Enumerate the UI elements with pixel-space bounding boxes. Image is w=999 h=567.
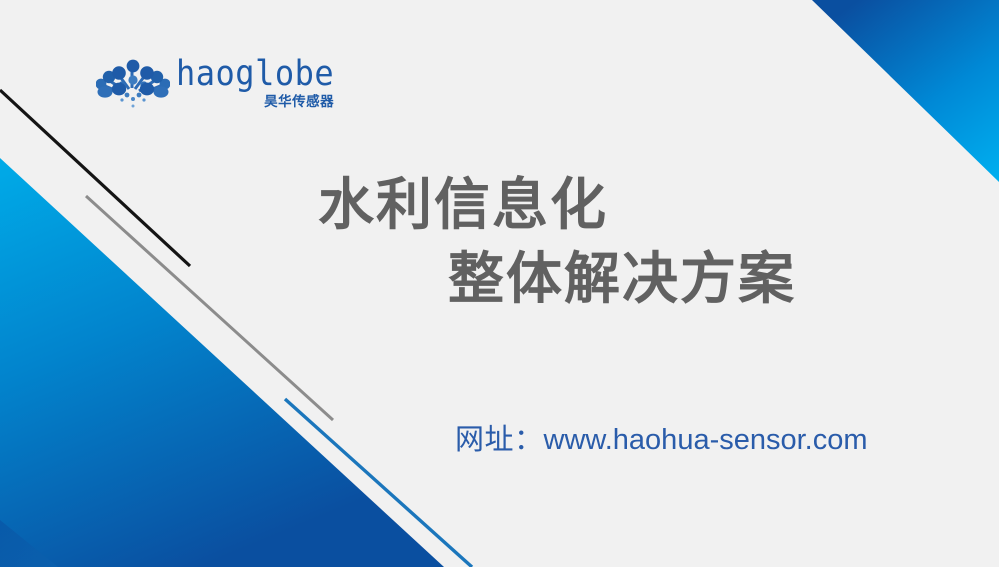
diagonal-line-gray (86, 196, 333, 420)
brand-text-block: haoglobe 昊华传感器 (176, 55, 334, 109)
website-url[interactable]: www.haohua-sensor.com (544, 424, 868, 456)
title-line-1: 水利信息化 (318, 168, 918, 242)
triangle-top-right (812, 0, 999, 182)
brand-wordmark: haoglobe (176, 55, 334, 92)
slide-title: 水利信息化 整体解决方案 (318, 168, 918, 316)
diagonal-line-blue (285, 399, 472, 567)
network-node-cluster-icon (96, 58, 170, 114)
website-line: 网址：www.haohua-sensor.com (455, 421, 868, 459)
triangle-bottom-left-accent (0, 520, 58, 567)
title-line-2: 整体解决方案 (448, 242, 918, 316)
brand-logo: haoglobe 昊华传感器 (96, 55, 334, 117)
presentation-title-slide: haoglobe 昊华传感器 水利信息化 整体解决方案 网址：www.haohu… (0, 0, 999, 567)
brand-chinese-name: 昊华传感器 (264, 94, 334, 109)
website-label: 网址： (455, 424, 544, 456)
